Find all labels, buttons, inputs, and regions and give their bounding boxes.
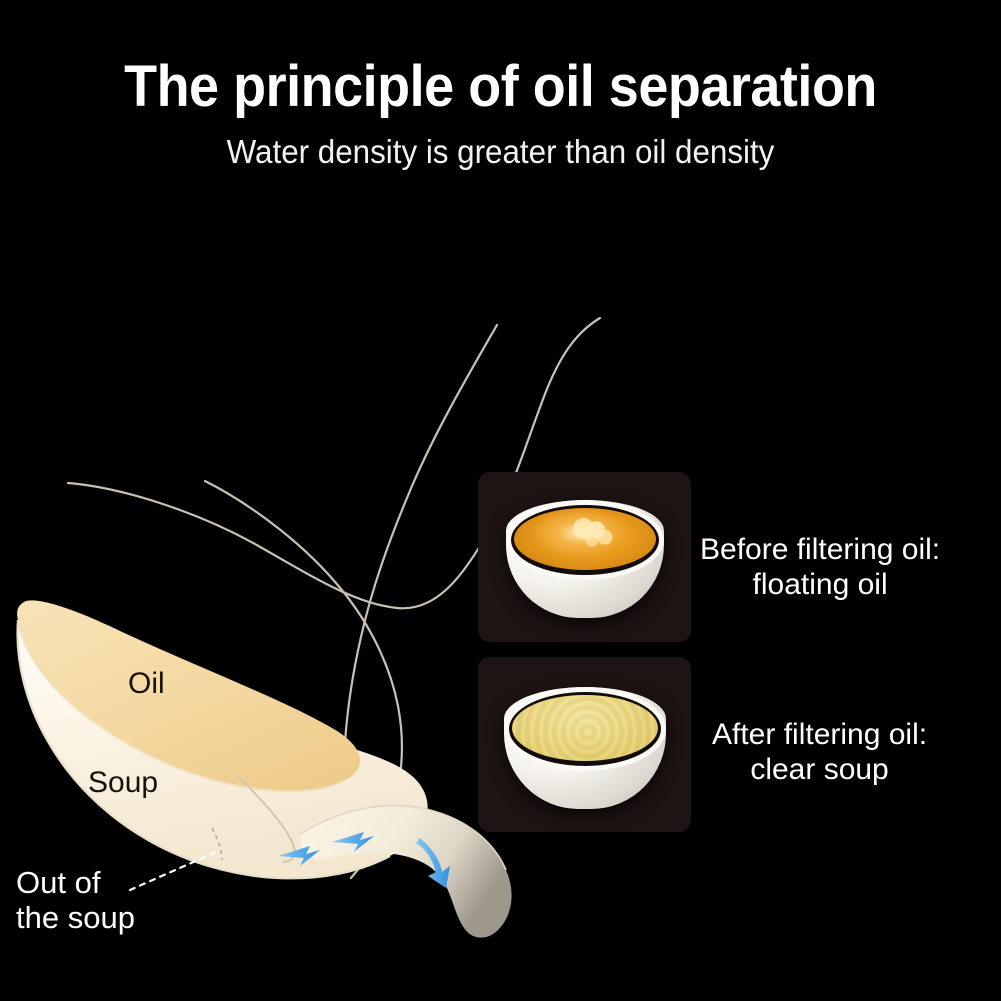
photo-panel-after-filtering xyxy=(478,657,691,832)
caption-before-line-2: floating oil xyxy=(700,568,940,603)
ladle-spout-outline xyxy=(300,805,506,870)
flow-arrow-1 xyxy=(278,846,320,866)
ladle-seam-dashed xyxy=(212,828,222,860)
bowl-photo-before xyxy=(478,472,691,642)
caption-after-filtering: After filtering oil: clear soup xyxy=(712,718,927,787)
flow-arrows xyxy=(278,832,450,888)
out-of-soup-label: Out of the soup xyxy=(16,866,135,935)
ladle-inner-seam xyxy=(238,776,295,862)
out-of-soup-leader-line xyxy=(130,852,216,890)
page-subtitle: Water density is greater than oil densit… xyxy=(25,133,976,171)
ladle-bowl-rim xyxy=(18,620,346,792)
header: The principle of oil separation Water de… xyxy=(0,58,1001,171)
page-title: The principle of oil separation xyxy=(35,58,966,116)
out-of-soup-line-1: Out of xyxy=(16,866,135,901)
ladle-oil-layer xyxy=(17,600,360,791)
flow-arrow-2 xyxy=(332,832,374,852)
soup-layer-label: Soup xyxy=(88,766,158,800)
infographic-page: The principle of oil separation Water de… xyxy=(0,0,1001,1001)
out-of-soup-line-2: the soup xyxy=(16,901,135,936)
caption-after-line-2: clear soup xyxy=(712,753,927,788)
oil-layer-label: Oil xyxy=(128,667,165,701)
caption-before-filtering: Before filtering oil: floating oil xyxy=(700,533,940,602)
caption-before-line-1: Before filtering oil: xyxy=(700,533,940,568)
caption-after-line-1: After filtering oil: xyxy=(712,718,927,753)
bowl-inner-rim xyxy=(506,500,664,580)
bowl-photo-after xyxy=(478,657,691,832)
flow-arrow-3-curved xyxy=(416,838,450,888)
photo-panel-before-filtering xyxy=(478,472,691,642)
bowl-inner-rim xyxy=(504,687,666,771)
ladle-bowl-outline xyxy=(17,620,390,878)
ladle-bowl-soup xyxy=(17,603,427,878)
